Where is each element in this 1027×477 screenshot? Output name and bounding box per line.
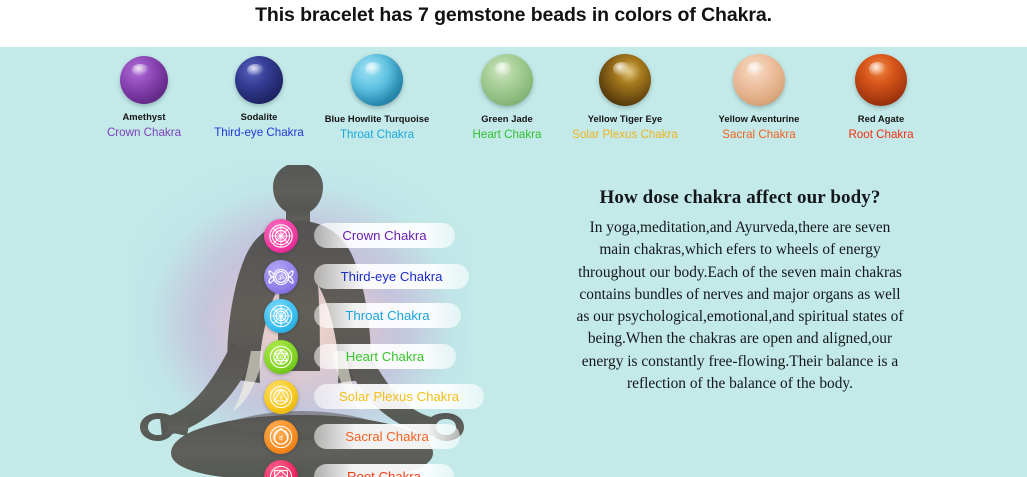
chakra-label: Heart Chakra xyxy=(346,349,424,364)
chakra-pill-heart: Heart Chakra xyxy=(314,344,456,369)
svg-text:हं: हं xyxy=(279,312,283,321)
chakra-article: How dose chakra affect our body? In yoga… xyxy=(575,187,905,395)
bead-green-jade-icon xyxy=(481,54,533,106)
bead-item-blue-howlite-turquoise: Blue Howlite Turquoise Throat Chakra xyxy=(302,47,452,141)
chakra-label: Sacral Chakra xyxy=(345,429,429,444)
bead-turquoise-icon xyxy=(351,54,403,106)
chakra-row-solar-plexus[interactable]: रं Solar Plexus Chakra xyxy=(264,380,298,414)
chakra-pill-third-eye: Third-eye Chakra xyxy=(314,264,469,289)
ram-lotus-icon: रं xyxy=(264,380,298,414)
article-title: How dose chakra affect our body? xyxy=(575,187,905,209)
chakra-label: Throat Chakra xyxy=(345,308,429,323)
om-two-petal-icon: ॐ xyxy=(264,260,298,294)
om-lotus-icon: ॐ xyxy=(264,219,298,253)
bead-stone-name: Blue Howlite Turquoise xyxy=(302,113,452,125)
chakra-pill-sacral: Sacral Chakra xyxy=(314,424,460,449)
chakra-row-root[interactable]: लं Root Chakra xyxy=(264,460,298,477)
main-panel: Amethyst Crown Chakra Sodalite Third-eye… xyxy=(0,47,1027,477)
chakra-pill-root: Root Chakra xyxy=(314,464,454,477)
svg-text:वं: वं xyxy=(279,434,283,442)
bead-chakra-name: Root Chakra xyxy=(806,128,956,141)
bead-item-red-agate: Red Agate Root Chakra xyxy=(806,47,956,141)
chakra-pill-throat: Throat Chakra xyxy=(314,303,461,328)
chakra-label: Solar Plexus Chakra xyxy=(339,389,459,404)
bead-stone-name: Red Agate xyxy=(806,113,956,125)
chakra-row-sacral[interactable]: वं Sacral Chakra xyxy=(264,420,298,454)
gemstone-bead-strip: Amethyst Crown Chakra Sodalite Third-eye… xyxy=(0,47,1027,157)
article-body: In yoga,meditation,and Ayurveda,there ar… xyxy=(575,217,905,395)
yam-lotus-icon: यं xyxy=(264,340,298,374)
chakra-label: Crown Chakra xyxy=(342,228,426,243)
chakra-row-throat[interactable]: हं Throat Chakra xyxy=(264,299,298,333)
bead-stone-name: Yellow Tiger Eye xyxy=(550,113,700,125)
chakra-label: Third-eye Chakra xyxy=(341,269,443,284)
bead-amethyst-icon xyxy=(120,56,168,104)
bead-aventurine-icon xyxy=(733,54,785,106)
chakra-pill-crown: Crown Chakra xyxy=(314,223,455,248)
infographic-page: This bracelet has 7 gemstone beads in co… xyxy=(0,0,1027,477)
bead-chakra-name: Solar Plexus Chakra xyxy=(550,128,700,142)
bead-tiger-eye-icon xyxy=(599,54,651,106)
svg-text:ॐ: ॐ xyxy=(277,274,284,283)
lam-lotus-icon: लं xyxy=(264,460,298,477)
chakra-list: ॐ Crown Chakra xyxy=(264,219,464,477)
bead-red-agate-icon xyxy=(855,54,907,106)
ham-lotus-icon: हं xyxy=(264,299,298,333)
chakra-row-crown[interactable]: ॐ Crown Chakra xyxy=(264,219,298,253)
bead-sodalite-icon xyxy=(235,56,283,104)
page-title: This bracelet has 7 gemstone beads in co… xyxy=(255,4,772,27)
chakra-pill-solar-plexus: Solar Plexus Chakra xyxy=(314,384,484,409)
vam-lotus-icon: वं xyxy=(264,420,298,454)
page-header: This bracelet has 7 gemstone beads in co… xyxy=(0,0,1027,47)
chakra-label: Root Chakra xyxy=(347,469,421,477)
bead-chakra-name: Throat Chakra xyxy=(302,128,452,141)
chakra-row-heart[interactable]: यं Heart Chakra xyxy=(264,340,298,374)
svg-text:ॐ: ॐ xyxy=(277,232,285,242)
chakra-row-third-eye[interactable]: ॐ Third-eye Chakra xyxy=(264,260,298,294)
bead-item-yellow-tiger-eye: Yellow Tiger Eye Solar Plexus Chakra xyxy=(550,47,700,142)
svg-text:रं: रं xyxy=(280,395,283,403)
